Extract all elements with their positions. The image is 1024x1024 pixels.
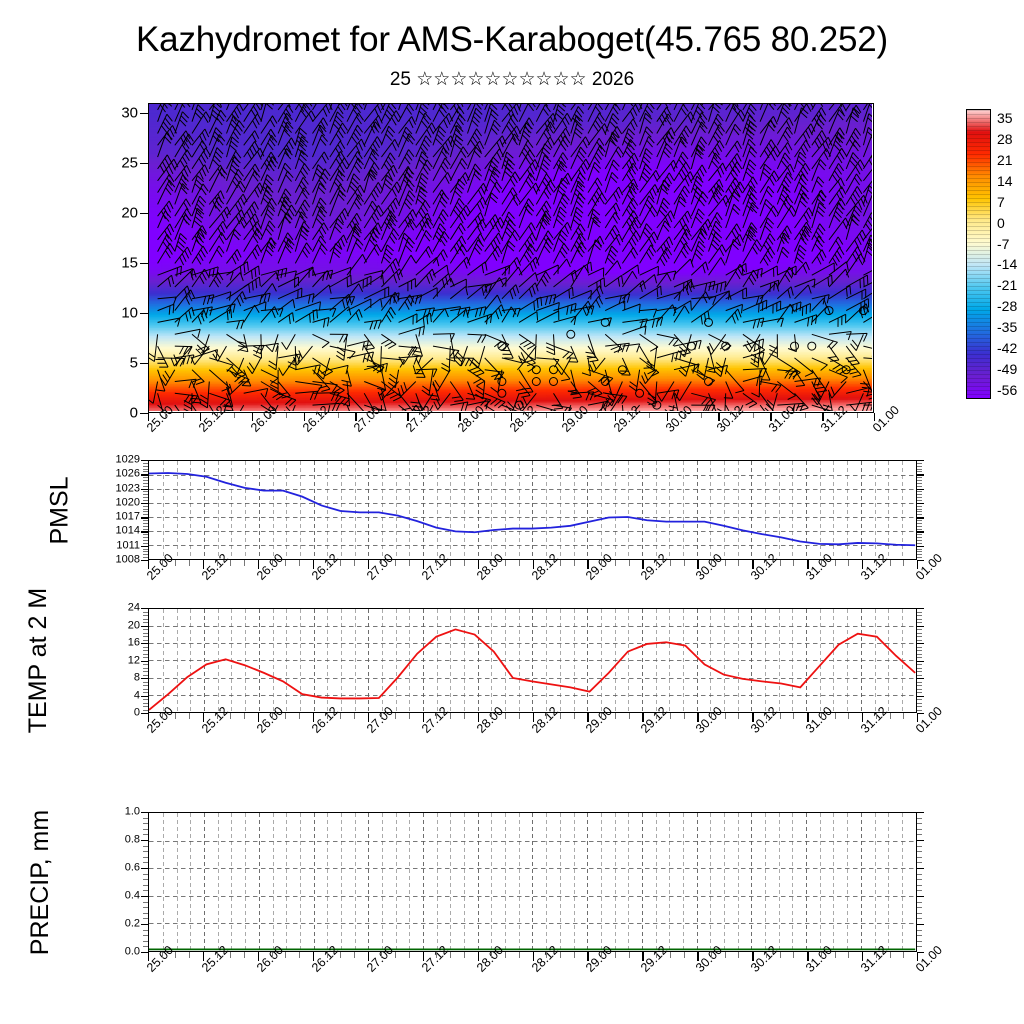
xsec-xtick-minor <box>217 413 218 418</box>
precip-ytick-minor <box>143 846 148 847</box>
precip-ytick-minor <box>917 818 922 819</box>
colorbar-tick-label: -56 <box>997 382 1017 398</box>
xsec-xtick-minor <box>165 413 166 418</box>
temp2m-ytick-minor <box>917 650 922 651</box>
pmsl-xtick-minor <box>381 560 382 566</box>
precip-xtick-minor <box>560 952 561 958</box>
pmsl-ytick-minor <box>917 506 922 507</box>
precip-ytick <box>917 840 924 841</box>
colorbar-tick-label: -35 <box>997 319 1017 335</box>
precip-ytick-minor <box>917 846 922 847</box>
xsec-xtick-minor <box>321 413 322 418</box>
temp2m-ytick-minor <box>143 612 148 613</box>
precip-ytick <box>141 812 148 813</box>
precip-xtick-minor <box>505 952 506 958</box>
pmsl-ytick-minor <box>917 511 922 512</box>
xsec-xtick-minor <box>684 413 685 418</box>
xsec-ylabel: 30 <box>88 106 138 121</box>
precip-ytick-minor <box>143 829 148 830</box>
xsec-xtick-minor <box>425 413 426 418</box>
temp2m-xtick-minor <box>766 713 767 719</box>
precip-xtick-minor <box>574 952 575 958</box>
pmsl-ytick-label: 1026 <box>86 469 140 480</box>
temp2m-xtick-minor <box>436 713 437 719</box>
temp2m-ytick <box>141 713 148 714</box>
temp2m-ytick-label: 8 <box>86 673 140 684</box>
precip-xtick-minor <box>189 952 190 958</box>
xsec-xtick-minor <box>286 413 287 418</box>
pmsl-ytick-minor <box>143 514 148 515</box>
pmsl-xtick-minor <box>546 560 547 566</box>
temp2m-ytick-minor <box>917 689 922 690</box>
temp2m-xtick-minor <box>890 713 891 719</box>
temp2m-xtick-minor <box>793 713 794 719</box>
precip-ytick <box>917 868 924 869</box>
pmsl-xtick-minor <box>272 560 273 566</box>
precip-xtick-minor <box>299 952 300 958</box>
temp2m-ytick <box>917 626 924 627</box>
temp2m-xtick-minor <box>519 713 520 719</box>
precip-ytick <box>917 812 924 813</box>
precip-ytick-label: 0.6 <box>86 863 140 874</box>
temp2m-ytick-minor <box>143 657 148 658</box>
precip-xtick-minor <box>738 952 739 958</box>
precip-ytick-minor <box>143 874 148 875</box>
xsec-xtick-minor <box>269 413 270 418</box>
temp2m-xtick-minor <box>629 713 630 719</box>
precip-xtick-minor <box>162 952 163 958</box>
pmsl-xtick-minor <box>656 560 657 566</box>
xsec-ytick <box>140 263 148 264</box>
temp2m-ytick-minor <box>143 622 148 623</box>
precip-xtick-minor <box>519 952 520 958</box>
pmsl-ytick-minor <box>917 537 922 538</box>
xsec-xtick-minor <box>736 413 737 418</box>
pmsl-ytick-minor <box>143 497 148 498</box>
temp2m-ytick-minor <box>917 647 922 648</box>
pmsl-ytick <box>141 546 148 547</box>
temp2m-ytick-minor <box>143 664 148 665</box>
colorbar-stripes <box>967 110 990 398</box>
temp2m-xtick-minor <box>780 713 781 719</box>
pmsl-xtick-minor <box>450 560 451 566</box>
xsec-xtick-minor <box>476 413 477 418</box>
precip-xtick-minor <box>835 952 836 958</box>
temp2m-ytick-minor <box>143 710 148 711</box>
xsec-ylabel: 20 <box>88 206 138 221</box>
precip-xtick-minor <box>464 952 465 958</box>
temp2m-ytick-label: 12 <box>86 655 140 666</box>
xsec-ylabel: 0 <box>88 406 138 421</box>
pmsl-ytick-minor <box>917 540 922 541</box>
pmsl-xtick-minor <box>629 560 630 566</box>
precip-ytick-minor <box>917 913 922 914</box>
pmsl-ytick <box>917 531 924 532</box>
pmsl-xtick-minor <box>684 560 685 566</box>
xsec-xtick-minor <box>839 413 840 418</box>
pmsl-ytick <box>917 503 924 504</box>
precip-xtick-minor <box>711 952 712 958</box>
colorbar-tick-label: 14 <box>997 173 1013 189</box>
temp2m-xtick-minor <box>656 713 657 719</box>
pmsl-ytick-minor <box>143 537 148 538</box>
precip-ytick-minor <box>143 930 148 931</box>
xsec-xtick-minor <box>857 413 858 418</box>
temp2m-xtick-minor <box>505 713 506 719</box>
pmsl-ytick-minor <box>917 509 922 510</box>
temp2m-ytick-minor <box>143 615 148 616</box>
xsec-ytick <box>140 213 148 214</box>
temp2m-xtick-minor <box>738 713 739 719</box>
temp2m-xtick-minor <box>450 713 451 719</box>
temp2m-ytick-minor <box>917 706 922 707</box>
pmsl-ytick-minor <box>917 469 922 470</box>
xsec-xtick-minor <box>701 413 702 418</box>
pmsl-ytick <box>141 560 148 561</box>
precip-xtick-minor <box>670 952 671 958</box>
xsec-xtick-minor <box>442 413 443 418</box>
temp2m-ytick-minor <box>917 619 922 620</box>
precip-ytick <box>141 840 148 841</box>
pmsl-xtick-minor <box>890 560 891 566</box>
precip-ytick-label: 0.2 <box>86 919 140 930</box>
temp2m-ytick-minor <box>143 668 148 669</box>
pmsl-ytick <box>917 546 924 547</box>
pmsl-ytick-minor <box>917 520 922 521</box>
pmsl-ytick-minor <box>917 534 922 535</box>
temp2m-xtick-minor <box>835 713 836 719</box>
precip-ytick-label: 0.0 <box>86 947 140 958</box>
pmsl-ytick <box>141 503 148 504</box>
pmsl-ytick-minor <box>143 520 148 521</box>
temp2m-ytick-minor <box>917 682 922 683</box>
precip-xtick-minor <box>780 952 781 958</box>
pmsl-ytick-minor <box>917 477 922 478</box>
temp2m-xtick-minor <box>409 713 410 719</box>
precip-ytick-minor <box>917 885 922 886</box>
temp2m-ytick-minor <box>917 699 922 700</box>
temp2m-ytick <box>917 678 924 679</box>
temp2m-xtick-minor <box>354 713 355 719</box>
precip-ytick-minor <box>143 890 148 891</box>
precip-xtick-minor <box>272 952 273 958</box>
xsec-xtick-minor <box>338 413 339 418</box>
temp2m-ytick-minor <box>917 636 922 637</box>
precip-xtick-label: 01.00 <box>913 943 945 975</box>
temp2m-ytick-minor <box>143 706 148 707</box>
temp2m-ytick-minor <box>143 682 148 683</box>
temp2m-ytick-minor <box>917 640 922 641</box>
pmsl-xtick-minor <box>821 560 822 566</box>
pmsl-xtick-minor <box>189 560 190 566</box>
temp2m-ytick-minor <box>143 619 148 620</box>
pmsl-ytick <box>917 517 924 518</box>
xsec-ylabel: 10 <box>88 306 138 321</box>
pmsl-ytick <box>141 474 148 475</box>
precip-axis-title: PRECIP, mm <box>26 809 55 954</box>
pmsl-ytick-label: 1011 <box>86 540 140 551</box>
precip-ytick-minor <box>917 941 922 942</box>
pmsl-ytick-minor <box>143 529 148 530</box>
pmsl-xtick-minor <box>793 560 794 566</box>
precip-ytick-label: 0.8 <box>86 835 140 846</box>
temp2m-xtick-minor <box>670 713 671 719</box>
xsec-xtick-minor <box>390 413 391 418</box>
xsec-xtick-minor <box>183 413 184 418</box>
pmsl-ytick-minor <box>143 466 148 467</box>
temp2m-xtick-minor <box>272 713 273 719</box>
temp2m-ytick-minor <box>917 668 922 669</box>
pmsl-ytick-minor <box>143 480 148 481</box>
pmsl-xtick-minor <box>299 560 300 566</box>
colorbar-tick-label: 35 <box>997 110 1013 126</box>
precip-ytick <box>917 924 924 925</box>
precip-xtick-minor <box>766 952 767 958</box>
precip-ytick-minor <box>143 907 148 908</box>
pmsl-ytick-label: 1029 <box>86 455 140 466</box>
temp2m-ytick-label: 20 <box>86 620 140 631</box>
pmsl-ytick <box>141 460 148 461</box>
xsec-ytick <box>140 113 148 114</box>
temp2m-ytick-minor <box>143 640 148 641</box>
pmsl-xtick-minor <box>464 560 465 566</box>
temp2m-ytick <box>141 643 148 644</box>
pmsl-ytick-label: 1008 <box>86 555 140 566</box>
temp2m-xtick-minor <box>299 713 300 719</box>
xsec-ylabel: 5 <box>88 356 138 371</box>
pmsl-xtick-minor <box>780 560 781 566</box>
pmsl-ytick-minor <box>917 486 922 487</box>
precip-xtick-minor <box>890 952 891 958</box>
temp2m-ytick-label: 16 <box>86 638 140 649</box>
pmsl-ytick-minor <box>917 471 922 472</box>
xsec-ytick <box>140 313 148 314</box>
pmsl-xtick-minor <box>725 560 726 566</box>
temp2m-ytick <box>141 696 148 697</box>
xsec-xtick-minor <box>373 413 374 418</box>
temp2m-ytick-minor <box>143 636 148 637</box>
precip-xtick-minor <box>629 952 630 958</box>
colorbar-tick-label: 28 <box>997 131 1013 147</box>
pmsl-ytick-minor <box>917 463 922 464</box>
pmsl-ytick-label: 1023 <box>86 483 140 494</box>
precip-xtick-minor <box>381 952 382 958</box>
temp2m-ytick-minor <box>143 633 148 634</box>
temp2m-xtick-minor <box>230 713 231 719</box>
xsec-xtick-minor <box>597 413 598 418</box>
precip-xtick-minor <box>354 952 355 958</box>
colorbar-tick-label: -14 <box>997 256 1017 272</box>
pmsl-ytick-minor <box>917 494 922 495</box>
pmsl-ytick-label: 1017 <box>86 512 140 523</box>
temp2m-ytick-minor <box>143 703 148 704</box>
temp2m-xtick-minor <box>711 713 712 719</box>
temp2m-xtick-minor <box>546 713 547 719</box>
temp2m-xtick-minor <box>395 713 396 719</box>
precip-ytick-minor <box>917 907 922 908</box>
xsec-xtick-minor <box>649 413 650 418</box>
temp2m-ytick-minor <box>917 612 922 613</box>
subtitle-month-glyphs: ☆☆☆☆☆☆☆☆☆☆ <box>416 69 586 90</box>
temp2m-xtick-minor <box>464 713 465 719</box>
pmsl-xtick-minor <box>244 560 245 566</box>
pmsl-ytick-label: 1020 <box>86 497 140 508</box>
pmsl-xtick-minor <box>395 560 396 566</box>
pmsl-xtick-minor <box>340 560 341 566</box>
pmsl-ytick-minor <box>917 480 922 481</box>
xsec-xtick-minor <box>494 413 495 418</box>
temp2m-ytick-minor <box>917 703 922 704</box>
precip-ytick <box>141 896 148 897</box>
pmsl-ytick-minor <box>917 466 922 467</box>
precip-ytick-minor <box>143 818 148 819</box>
pmsl-ytick-minor <box>917 557 922 558</box>
pmsl-xtick-minor <box>560 560 561 566</box>
pmsl-xtick-minor <box>711 560 712 566</box>
precip-xtick-minor <box>395 952 396 958</box>
temp2m-ytick-minor <box>143 629 148 630</box>
temp2m-ytick <box>917 661 924 662</box>
colorbar-tick-label: -28 <box>997 298 1017 314</box>
temp2m-ytick-minor <box>143 699 148 700</box>
precip-xtick-minor <box>601 952 602 958</box>
xsec-xtick-minor <box>234 413 235 418</box>
precip-xtick-minor <box>615 952 616 958</box>
pmsl-xtick-minor <box>848 560 849 566</box>
pmsl-ytick-minor <box>917 543 922 544</box>
pmsl-xtick-minor <box>491 560 492 566</box>
pmsl-ytick-minor <box>917 549 922 550</box>
colorbar-tick-label: -7 <box>997 236 1009 252</box>
temp2m-plot-area <box>149 609 915 711</box>
temp2m-xtick-minor <box>903 713 904 719</box>
temp2m-ytick-minor <box>143 689 148 690</box>
pmsl-xtick-minor <box>738 560 739 566</box>
pmsl-ytick-minor <box>917 497 922 498</box>
xsec-xtick-minor <box>788 413 789 418</box>
pmsl-ytick-minor <box>143 511 148 512</box>
subtitle-year: 2026 <box>592 69 634 90</box>
precip-xtick-minor <box>491 952 492 958</box>
pmsl-ytick-minor <box>917 551 922 552</box>
temp2m-ytick-minor <box>917 633 922 634</box>
temp2m-ytick-minor <box>917 654 922 655</box>
precip-xtick-minor <box>546 952 547 958</box>
pmsl-ytick-minor <box>143 543 148 544</box>
pmsl-ytick-minor <box>917 529 922 530</box>
temp2m-series <box>149 609 915 711</box>
temp2m-ytick-minor <box>143 692 148 693</box>
temp2m-ytick-minor <box>917 692 922 693</box>
temp2m-xtick-minor <box>491 713 492 719</box>
pmsl-xtick-minor <box>519 560 520 566</box>
pmsl-ytick-minor <box>143 494 148 495</box>
temp2m-xtick-minor <box>574 713 575 719</box>
pmsl-ytick-minor <box>143 483 148 484</box>
temp2m-xtick-minor <box>244 713 245 719</box>
precip-xtick-minor <box>230 952 231 958</box>
precip-ytick <box>917 896 924 897</box>
temp2m-xtick-minor <box>340 713 341 719</box>
subtitle-day: 25 <box>390 69 411 90</box>
pmsl-xtick-minor <box>327 560 328 566</box>
temp2m-xtick-minor <box>189 713 190 719</box>
temp2m-xtick-minor <box>217 713 218 719</box>
temp2m-ytick-minor <box>143 654 148 655</box>
precip-ytick-minor <box>143 823 148 824</box>
temp2m-xtick-minor <box>381 713 382 719</box>
precip-xtick-minor <box>175 952 176 958</box>
precip-ytick-minor <box>917 857 922 858</box>
pmsl-plot-area <box>149 461 915 558</box>
temp2m-ytick <box>917 696 924 697</box>
pmsl-ytick-minor <box>917 554 922 555</box>
pmsl-ytick <box>141 489 148 490</box>
precip-xtick-minor <box>244 952 245 958</box>
xsec-xtick-minor <box>632 413 633 418</box>
pmsl-xtick-minor <box>162 560 163 566</box>
temp2m-ytick-minor <box>917 685 922 686</box>
precip-ytick-minor <box>143 851 148 852</box>
xsec-ytick <box>140 363 148 364</box>
precip-xtick-minor <box>340 952 341 958</box>
pmsl-ytick-label: 1014 <box>86 526 140 537</box>
xsec-xtick-minor <box>546 413 547 418</box>
temp2m-ytick-minor <box>917 664 922 665</box>
temp2m-ytick-minor <box>917 615 922 616</box>
temp2m-xtick-minor <box>285 713 286 719</box>
pmsl-xtick-minor <box>175 560 176 566</box>
precip-series <box>149 813 915 950</box>
pmsl-ytick-minor <box>917 526 922 527</box>
precip-ytick-minor <box>143 862 148 863</box>
precip-xtick-minor <box>903 952 904 958</box>
precip-xtick-minor <box>876 952 877 958</box>
pmsl-xtick-minor <box>409 560 410 566</box>
temp2m-ytick-minor <box>917 671 922 672</box>
precip-ytick-minor <box>917 879 922 880</box>
pmsl-ytick-minor <box>143 491 148 492</box>
precip-ytick-minor <box>917 935 922 936</box>
precip-ytick-label: 0.4 <box>86 891 140 902</box>
precip-ytick-minor <box>917 834 922 835</box>
pmsl-xtick-minor <box>670 560 671 566</box>
temp2m-ytick <box>141 608 148 609</box>
precip-ytick <box>141 868 148 869</box>
temp2m-ytick-label: 24 <box>86 603 140 614</box>
colorbar-tick-label: -49 <box>997 361 1017 377</box>
precip-xtick-minor <box>656 952 657 958</box>
temp2m-ytick-minor <box>143 675 148 676</box>
precip-ytick-minor <box>143 834 148 835</box>
xsec-ytick <box>140 163 148 164</box>
precip-ytick-minor <box>917 946 922 947</box>
precip-ytick-minor <box>917 918 922 919</box>
pmsl-ytick-minor <box>917 500 922 501</box>
precip-ytick-minor <box>143 857 148 858</box>
temp2m-xtick-minor <box>684 713 685 719</box>
precip-ytick-minor <box>143 885 148 886</box>
pmsl-ytick-minor <box>143 509 148 510</box>
temp2m-ytick <box>141 678 148 679</box>
precip-ytick-minor <box>143 941 148 942</box>
pmsl-axis-title: PMSL <box>46 476 75 544</box>
temp2m-ytick-label: 0 <box>86 708 140 719</box>
precip-ytick-minor <box>917 874 922 875</box>
pmsl-ytick-minor <box>143 557 148 558</box>
pmsl-ytick <box>917 460 924 461</box>
precip-xtick-minor <box>821 952 822 958</box>
